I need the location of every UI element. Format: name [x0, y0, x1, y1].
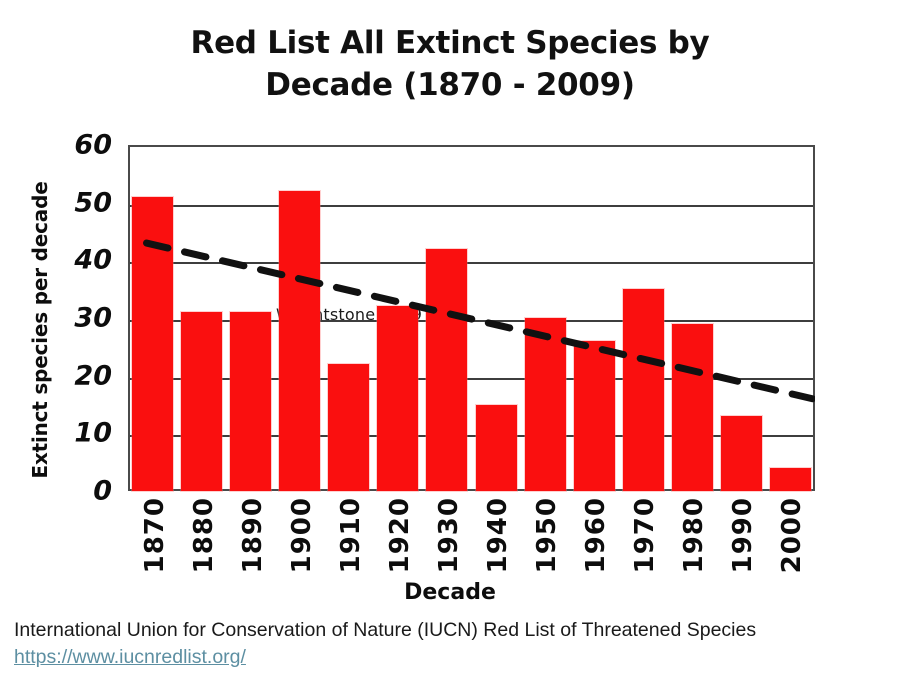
bar-1940[interactable] [476, 405, 517, 492]
x-tick-label-2000: 2000 [777, 497, 807, 573]
bar-series [128, 145, 815, 491]
chart-title: Red List All Extinct Species by Decade (… [0, 22, 900, 106]
chart-title-line-2: Decade (1870 - 2009) [0, 64, 900, 106]
bar-1950[interactable] [525, 318, 566, 491]
bar-1960[interactable] [574, 341, 615, 491]
bar-1990[interactable] [721, 416, 762, 491]
bar-2000[interactable] [770, 468, 811, 491]
bar-1880[interactable] [181, 312, 222, 491]
x-tick-label-1900: 1900 [287, 497, 317, 573]
x-tick-label-1870: 1870 [140, 497, 170, 573]
source-credit: International Union for Conservation of … [14, 617, 894, 643]
bar-1930[interactable] [426, 249, 467, 491]
bar-1970[interactable] [623, 289, 664, 491]
x-tick-label-1970: 1970 [630, 497, 660, 573]
x-tick-label-1940: 1940 [483, 497, 513, 573]
x-tick-label-1950: 1950 [532, 497, 562, 573]
y-tick-label-60: 60 [74, 130, 112, 161]
x-axis: 1870188018901900191019201930194019501960… [128, 497, 815, 582]
bar-1980[interactable] [672, 324, 713, 491]
y-tick-label-20: 20 [74, 360, 112, 391]
y-axis: Extinct species per decade 0102030405060 [0, 0, 128, 675]
x-tick-label-1930: 1930 [434, 497, 464, 573]
y-tick-label-0: 0 [93, 476, 112, 507]
x-tick-label-1990: 1990 [728, 497, 758, 573]
y-tick-label-40: 40 [74, 245, 112, 276]
chart-page: Red List All Extinct Species by Decade (… [0, 0, 900, 675]
bar-1870[interactable] [132, 197, 173, 491]
bar-1920[interactable] [377, 306, 418, 491]
x-tick-label-1880: 1880 [189, 497, 219, 573]
y-tick-label-50: 50 [74, 187, 112, 218]
y-axis-title: Extinct species per decade [28, 180, 52, 480]
chart-title-line-1: Red List All Extinct Species by [0, 22, 900, 64]
x-tick-label-1890: 1890 [238, 497, 268, 573]
x-tick-label-1920: 1920 [385, 497, 415, 573]
source-link[interactable]: https://www.iucnredlist.org/ [14, 646, 246, 669]
x-axis-title: Decade [0, 580, 900, 605]
bar-1910[interactable] [328, 364, 369, 491]
x-tick-label-1960: 1960 [581, 497, 611, 573]
bar-1900[interactable] [279, 191, 320, 491]
x-tick-label-1980: 1980 [679, 497, 709, 573]
footer: International Union for Conservation of … [14, 617, 894, 669]
x-tick-label-1910: 1910 [336, 497, 366, 573]
y-tick-label-10: 10 [74, 418, 112, 449]
bar-1890[interactable] [230, 312, 271, 491]
y-tick-label-30: 30 [74, 303, 112, 334]
